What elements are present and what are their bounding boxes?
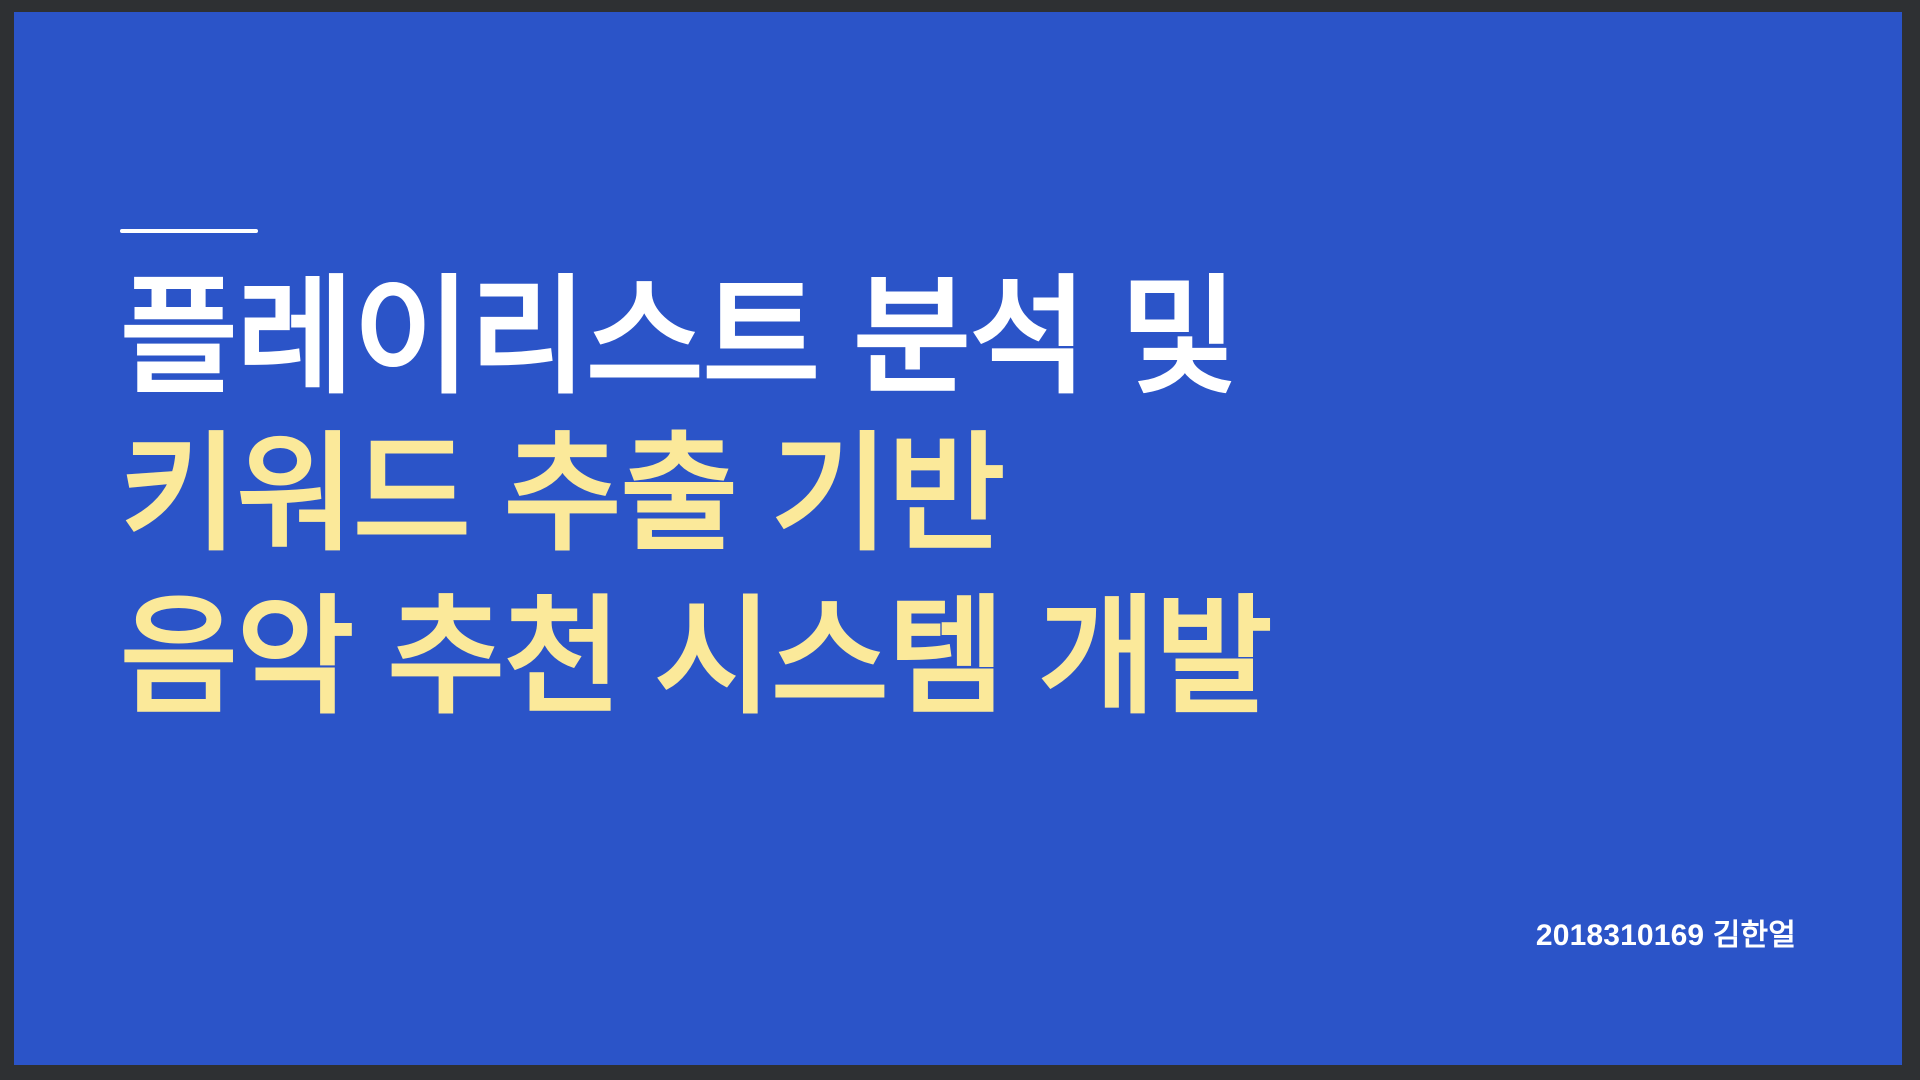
slide-viewer-frame: 플레이리스트 분석 및 키워드 추출 기반 음악 추천 시스템 개발 20183… bbox=[0, 0, 1920, 1080]
title-line-2: 키워드 추출 기반 bbox=[120, 419, 1840, 570]
title-line-3: 음악 추천 시스템 개발 bbox=[120, 582, 1840, 733]
author-credit: 2018310169 김한얼 bbox=[1536, 910, 1796, 954]
title-slide[interactable]: 플레이리스트 분석 및 키워드 추출 기반 음악 추천 시스템 개발 20183… bbox=[14, 12, 1902, 1065]
accent-rule-divider bbox=[120, 229, 258, 233]
title-line-1: 플레이리스트 분석 및 bbox=[120, 262, 1840, 413]
slide-title-block: 플레이리스트 분석 및 키워드 추출 기반 음악 추천 시스템 개발 bbox=[120, 262, 1840, 733]
